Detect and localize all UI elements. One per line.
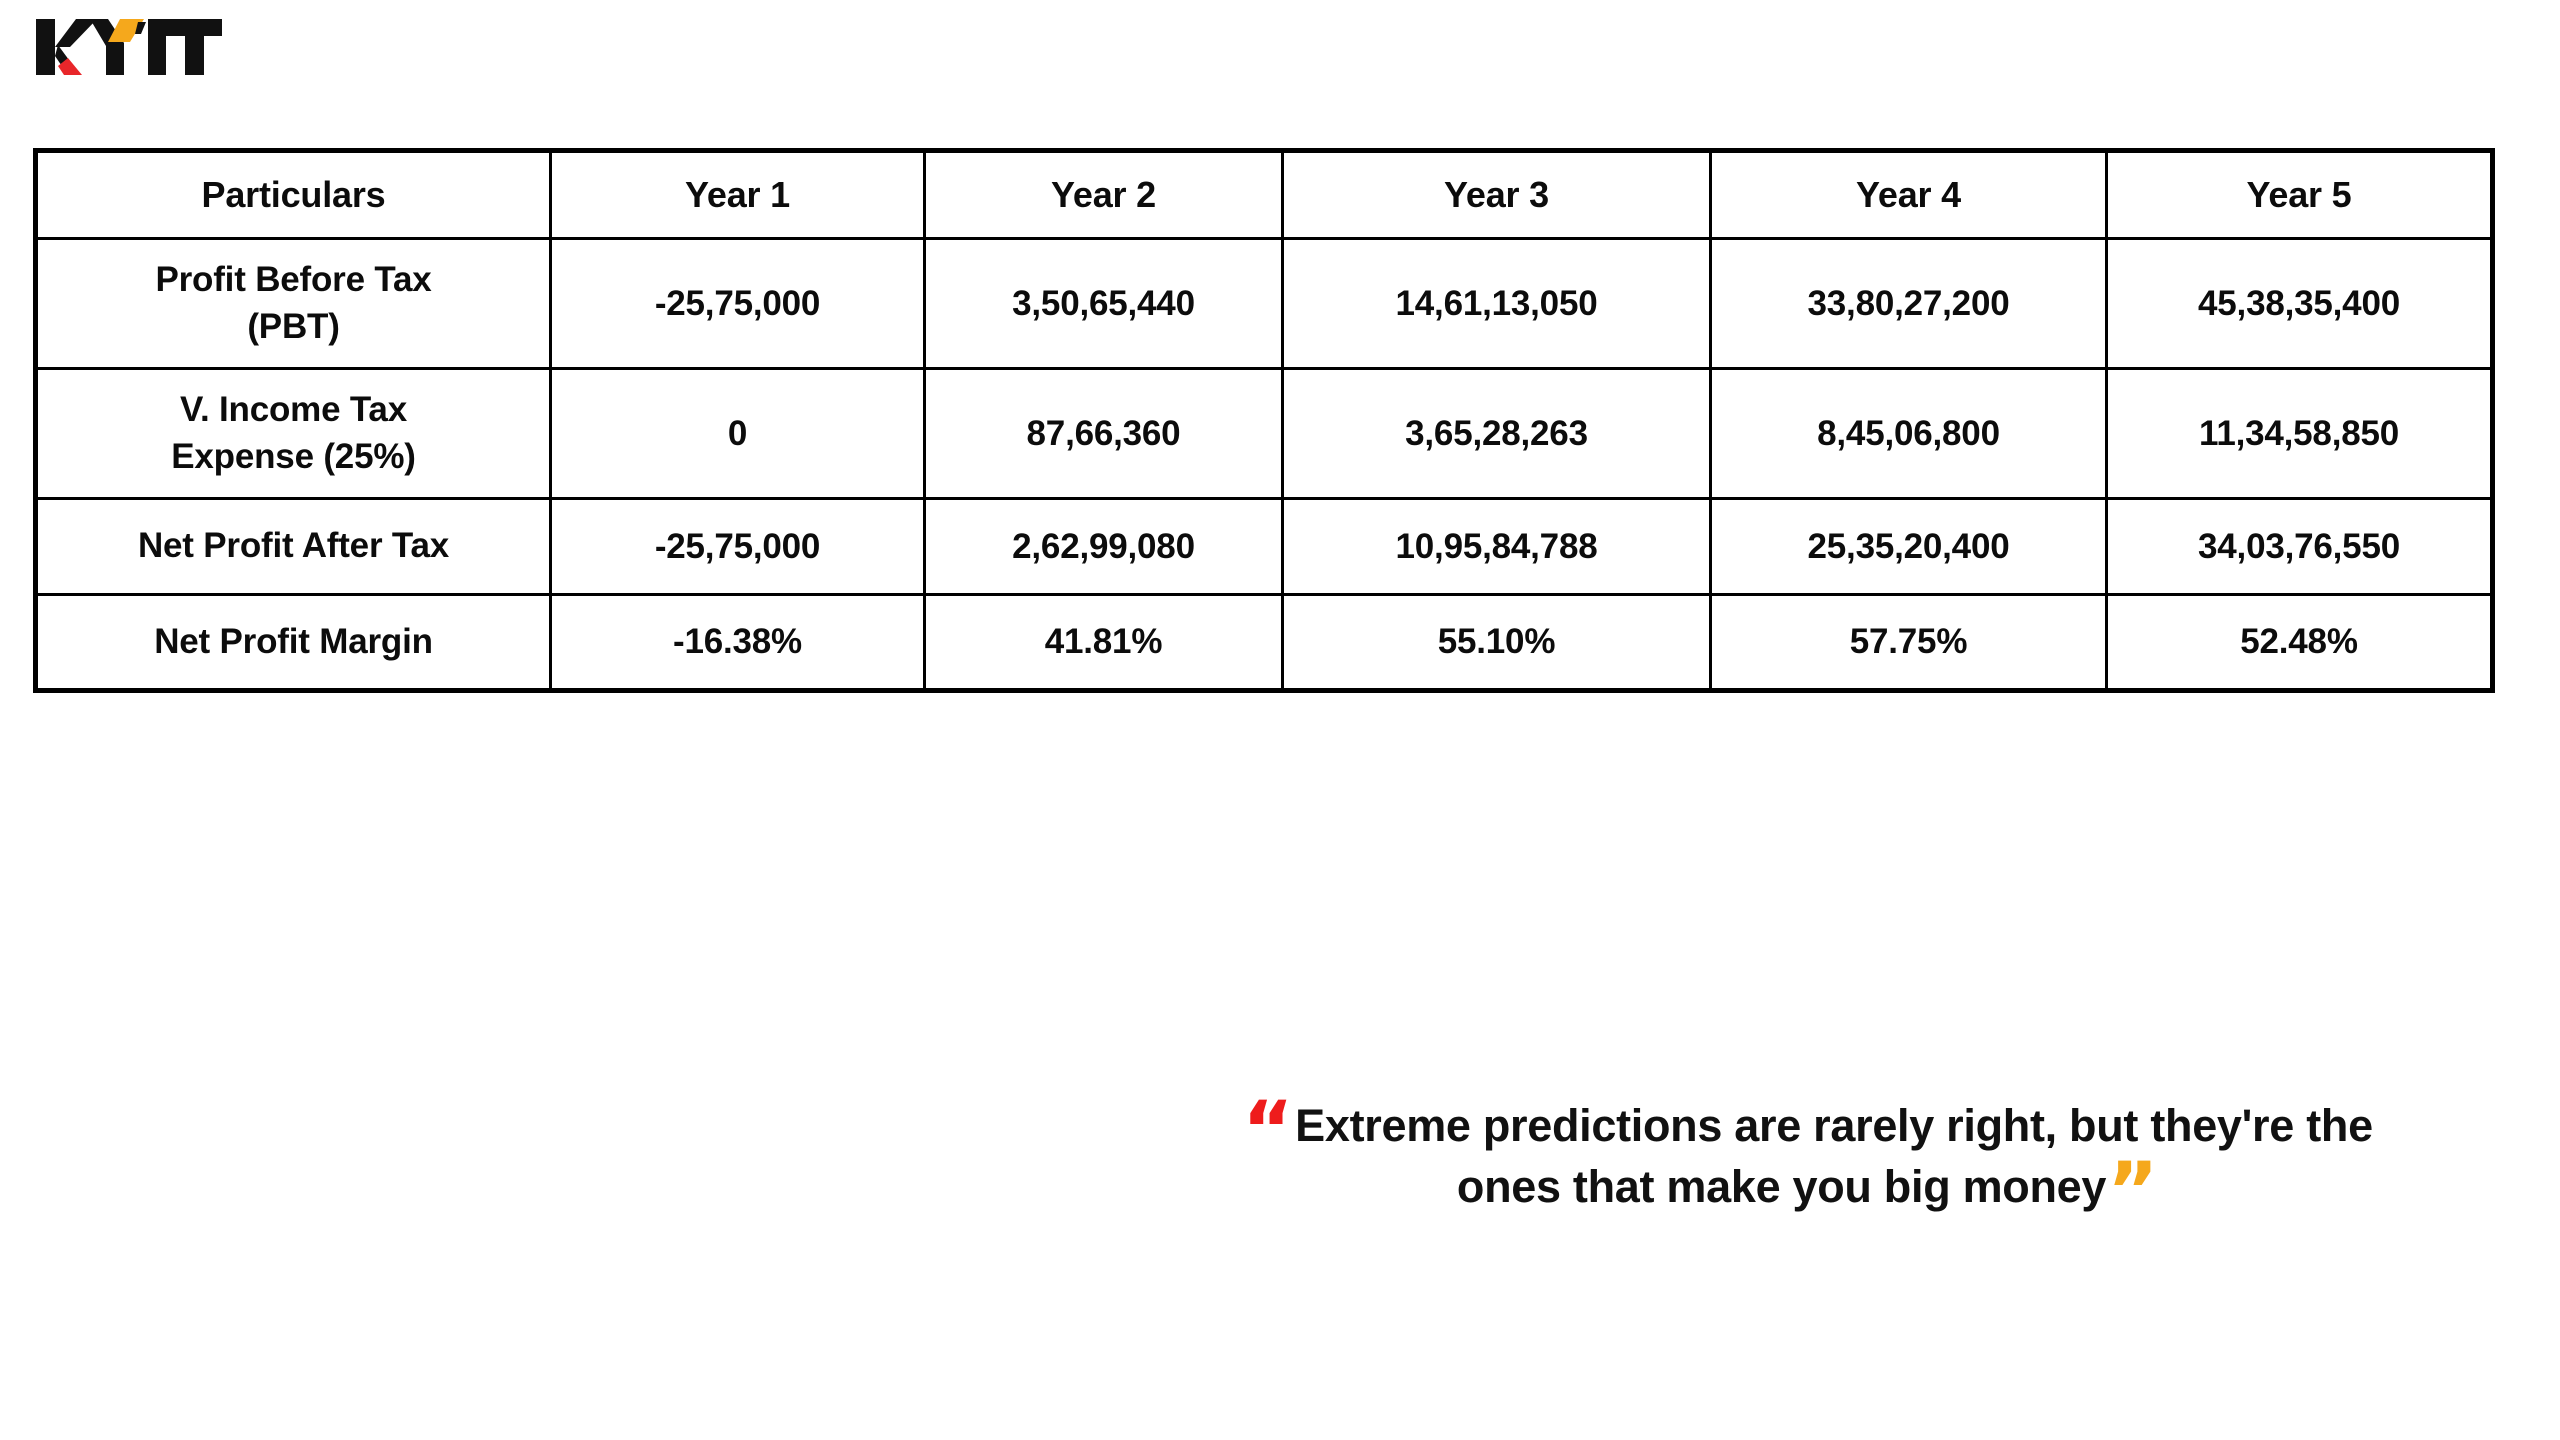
quote-open-icon: “ <box>1242 1086 1293 1176</box>
cell-pbt-year-3: 14,61,13,050 <box>1283 239 1711 369</box>
quote-text: Extreme predictions are rarely right, bu… <box>1295 1100 2373 1212</box>
cell-margin-year-5: 52.48% <box>2107 595 2493 691</box>
row-label-income-tax-expense: V. Income Tax Expense (25%) <box>36 369 551 499</box>
financial-projection-table: Particulars Year 1 Year 2 Year 3 Year 4 … <box>33 148 2495 693</box>
cell-pbt-year-2: 3,50,65,440 <box>925 239 1283 369</box>
cell-pbt-year-4: 33,80,27,200 <box>1711 239 2107 369</box>
table-header-row: Particulars Year 1 Year 2 Year 3 Year 4 … <box>36 151 2493 239</box>
quote-close-icon: ” <box>2107 1147 2158 1237</box>
table-row: Profit Before Tax (PBT) -25,75,000 3,50,… <box>36 239 2493 369</box>
table-row: Net Profit After Tax -25,75,000 2,62,99,… <box>36 499 2493 595</box>
cell-tax-year-4: 8,45,06,800 <box>1711 369 2107 499</box>
cell-margin-year-2: 41.81% <box>925 595 1283 691</box>
column-header-year-5: Year 5 <box>2107 151 2493 239</box>
row-label-line-2: Expense (25%) <box>171 437 415 476</box>
row-label-line-1: V. Income Tax <box>180 390 407 429</box>
cell-margin-year-4: 57.75% <box>1711 595 2107 691</box>
table-body: Profit Before Tax (PBT) -25,75,000 3,50,… <box>36 239 2493 691</box>
cell-npat-year-2: 2,62,99,080 <box>925 499 1283 595</box>
cell-npat-year-1: -25,75,000 <box>551 499 925 595</box>
quote-block: “Extreme predictions are rarely right, b… <box>1195 1095 2420 1217</box>
row-label-net-profit-margin: Net Profit Margin <box>36 595 551 691</box>
row-label-profit-before-tax: Profit Before Tax (PBT) <box>36 239 551 369</box>
table-header: Particulars Year 1 Year 2 Year 3 Year 4 … <box>36 151 2493 239</box>
cell-npat-year-5: 34,03,76,550 <box>2107 499 2493 595</box>
row-label-line-1: Profit Before Tax <box>155 260 431 299</box>
financial-table-container: Particulars Year 1 Year 2 Year 3 Year 4 … <box>33 148 2490 693</box>
cell-margin-year-1: -16.38% <box>551 595 925 691</box>
table-row: V. Income Tax Expense (25%) 0 87,66,360 … <box>36 369 2493 499</box>
table-row: Net Profit Margin -16.38% 41.81% 55.10% … <box>36 595 2493 691</box>
cell-npat-year-4: 25,35,20,400 <box>1711 499 2107 595</box>
kyit-logo-icon <box>34 16 224 78</box>
row-label-net-profit-after-tax: Net Profit After Tax <box>36 499 551 595</box>
cell-pbt-year-1: -25,75,000 <box>551 239 925 369</box>
cell-tax-year-1: 0 <box>551 369 925 499</box>
column-header-year-1: Year 1 <box>551 151 925 239</box>
cell-tax-year-5: 11,34,58,850 <box>2107 369 2493 499</box>
cell-margin-year-3: 55.10% <box>1283 595 1711 691</box>
column-header-year-3: Year 3 <box>1283 151 1711 239</box>
row-label-line-2: (PBT) <box>247 307 339 346</box>
column-header-year-2: Year 2 <box>925 151 1283 239</box>
cell-pbt-year-5: 45,38,35,400 <box>2107 239 2493 369</box>
column-header-year-4: Year 4 <box>1711 151 2107 239</box>
column-header-particulars: Particulars <box>36 151 551 239</box>
cell-tax-year-2: 87,66,360 <box>925 369 1283 499</box>
cell-npat-year-3: 10,95,84,788 <box>1283 499 1711 595</box>
cell-tax-year-3: 3,65,28,263 <box>1283 369 1711 499</box>
brand-logo <box>34 16 334 96</box>
